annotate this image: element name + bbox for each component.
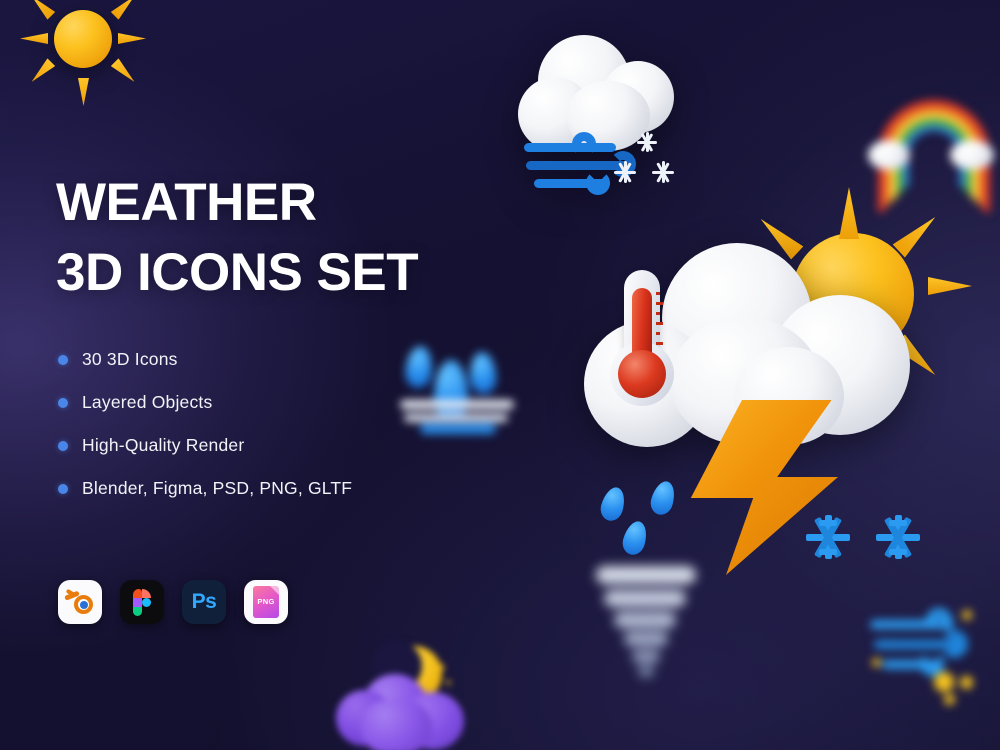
snowflake-icon xyxy=(806,515,850,559)
feature-list: 30 3D Icons Layered Objects High-Quality… xyxy=(58,338,352,510)
sparkle-icon xyxy=(934,672,954,692)
rainbow-icon xyxy=(868,96,1000,172)
format-badges: Ps PNG xyxy=(58,580,288,624)
sparkle-icon xyxy=(960,676,973,689)
list-item: Blender, Figma, PSD, PNG, GLTF xyxy=(58,467,352,510)
sparkle-icon xyxy=(944,694,955,705)
badge-blender[interactable] xyxy=(58,580,102,624)
raindrop-icon xyxy=(648,479,679,518)
thermometer-icon xyxy=(598,270,702,430)
list-item: Layered Objects xyxy=(58,381,352,424)
bullet-icon xyxy=(58,355,68,365)
hero-weather-composite xyxy=(580,185,940,575)
sparkle-icon xyxy=(872,658,881,667)
photoshop-icon: Ps xyxy=(192,590,217,614)
raindrop-icon xyxy=(598,485,629,524)
badge-figma[interactable] xyxy=(120,580,164,624)
page-title: WEATHER 3D ICONS SET xyxy=(56,168,418,308)
moon-cloud-icon xyxy=(336,640,472,750)
list-item: High-Quality Render xyxy=(58,424,352,467)
badge-png[interactable]: PNG xyxy=(244,580,288,624)
water-drops-waves-icon xyxy=(398,336,518,448)
blender-icon xyxy=(65,590,95,614)
snowflake-icon xyxy=(876,515,920,559)
list-item: 30 3D Icons xyxy=(58,338,352,381)
sparkle-icon xyxy=(962,610,972,620)
png-file-icon: PNG xyxy=(253,586,279,618)
sun-icon xyxy=(14,0,154,110)
feature-label: 30 3D Icons xyxy=(82,349,178,370)
snowflake-icon xyxy=(636,131,658,153)
feature-label: High-Quality Render xyxy=(82,435,244,456)
png-file-label: PNG xyxy=(253,597,279,606)
badge-photoshop[interactable]: Ps xyxy=(182,580,226,624)
poster-canvas: WEATHER 3D ICONS SET 30 3D Icons Layered… xyxy=(0,0,1000,750)
bullet-icon xyxy=(58,398,68,408)
feature-label: Blender, Figma, PSD, PNG, GLTF xyxy=(82,478,352,499)
snowflake-icon xyxy=(652,161,674,183)
wind-icon xyxy=(868,596,996,708)
title-line-2: 3D ICONS SET xyxy=(56,238,418,308)
raindrop-icon xyxy=(620,519,651,558)
title-line-1: WEATHER xyxy=(56,168,418,238)
figma-icon xyxy=(133,589,151,616)
tornado-icon xyxy=(588,560,708,690)
bullet-icon xyxy=(58,441,68,451)
bullet-icon xyxy=(58,484,68,494)
feature-label: Layered Objects xyxy=(82,392,212,413)
snowflake-icon xyxy=(614,161,636,183)
